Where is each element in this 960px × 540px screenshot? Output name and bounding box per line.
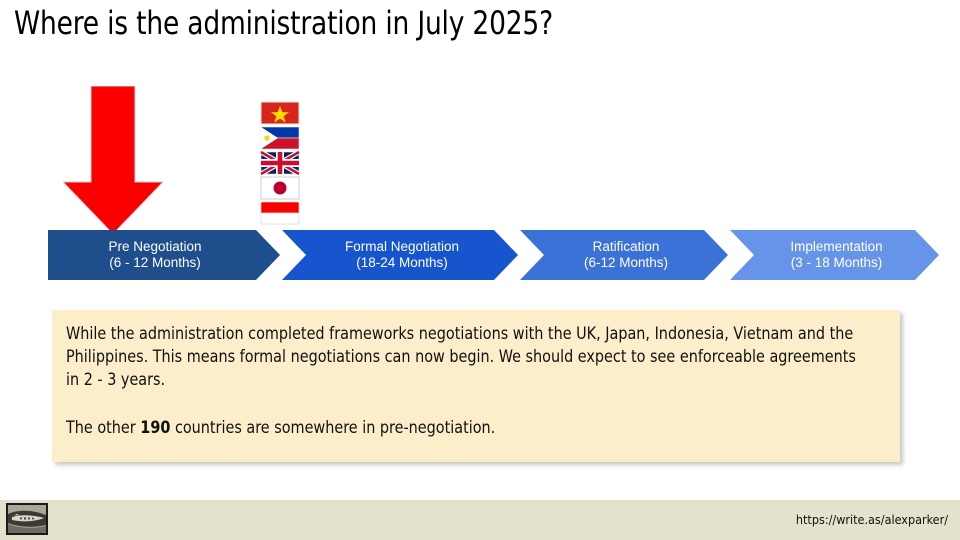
stage-duration: (3 - 18 Months) [791,255,883,272]
stage-duration: (6-12 Months) [584,255,668,272]
callout-box: While the administration completed frame… [52,310,900,462]
uk-flag [260,150,300,176]
callout-p2-before: The other [66,418,140,437]
stage-timeline: Pre Negotiation (6 - 12 Months) Formal N… [48,230,893,280]
callout-paragraph-1: While the administration completed frame… [66,322,859,391]
timeline-stage-formal-negotiation[interactable]: Formal Negotiation (18-24 Months) [282,230,518,280]
timeline-stage-implementation[interactable]: Implementation (3 - 18 Months) [730,230,939,280]
timeline-stage-pre-negotiation[interactable]: Pre Negotiation (6 - 12 Months) [48,230,280,280]
philippines-flag [260,125,300,151]
reptile-photo-logo [6,503,48,535]
timeline-stage-ratification[interactable]: Ratification (6-12 Months) [520,230,728,280]
stage-label: Formal Negotiation [345,239,459,256]
callout-paragraph-2: The other 190 countries are somewhere in… [66,416,859,439]
red-down-arrow [63,86,163,234]
stage-label: Ratification [593,239,660,256]
stage-duration: (18-24 Months) [356,255,448,272]
footer-url[interactable]: https://write.as/alexparker/ [796,512,948,527]
page-title: Where is the administration in July 2025… [14,2,553,44]
callout-p2-after: countries are somewhere in pre-negotiati… [170,418,495,437]
callout-country-count: 190 [140,418,170,437]
indonesia-flag [260,200,300,226]
flag-stack [257,100,303,225]
stage-label: Implementation [790,239,882,256]
stage-duration: (6 - 12 Months) [109,255,201,272]
vietnam-flag [260,100,300,126]
japan-flag [260,175,300,201]
stage-label: Pre Negotiation [108,239,201,256]
